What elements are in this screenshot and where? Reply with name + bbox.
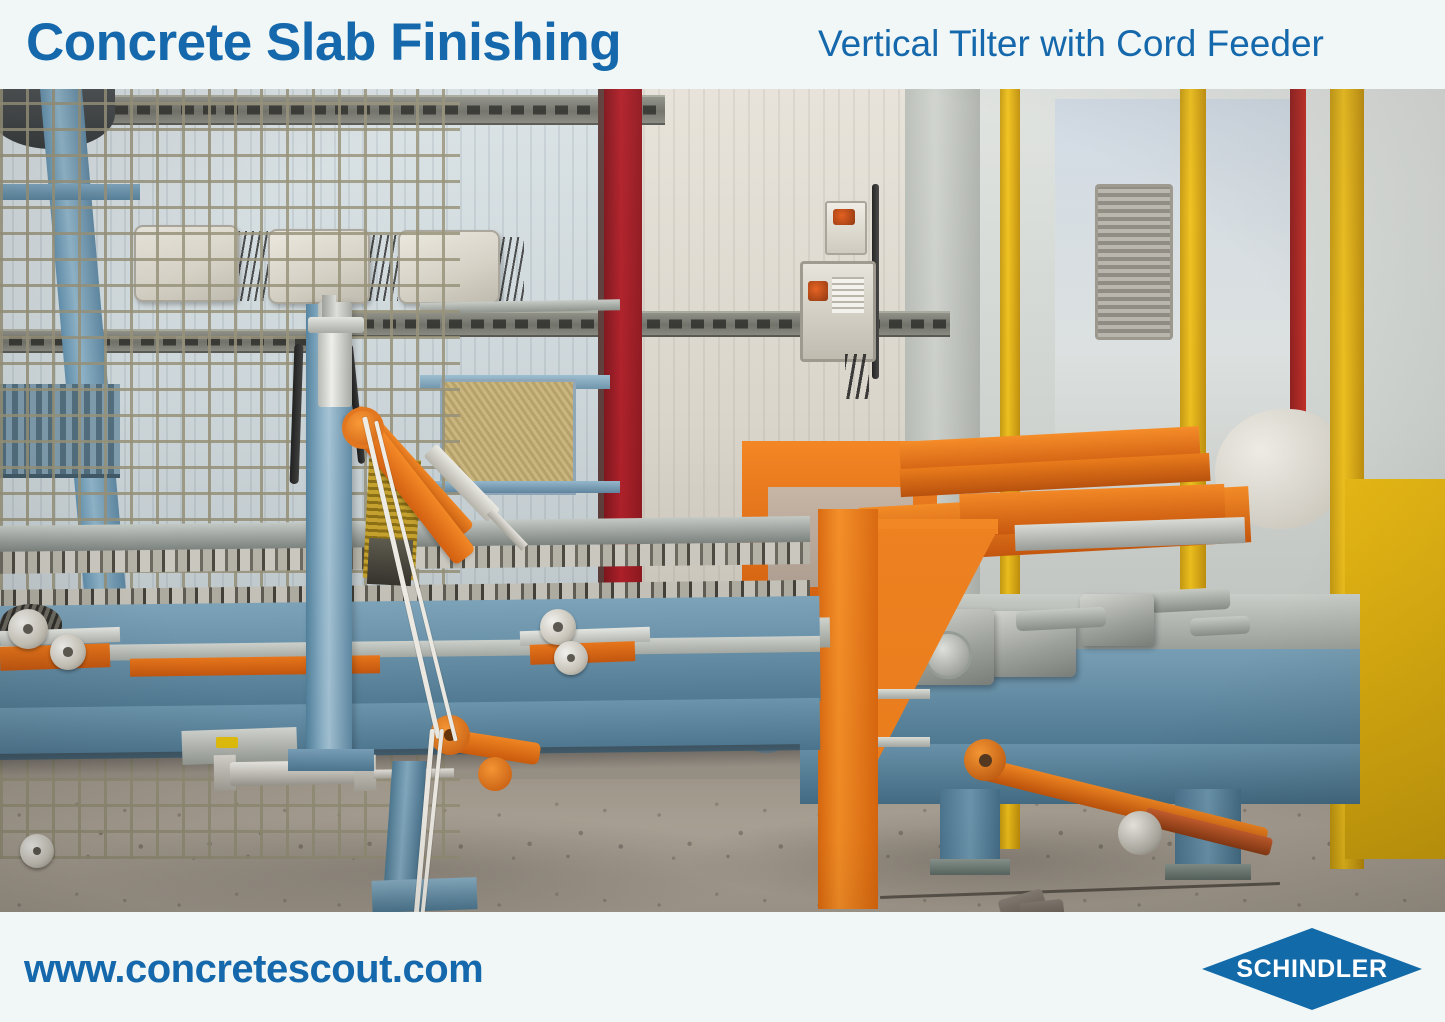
conveyor-roller <box>20 834 54 868</box>
ventilation-fan <box>1095 184 1173 340</box>
cylinder-mount-plate <box>181 727 297 765</box>
tilter-pivot-joint <box>964 739 1006 781</box>
machine-foot <box>930 859 1010 875</box>
support-roller <box>1118 811 1162 855</box>
page-footer: www.concretescout.com SCHINDLER <box>0 912 1445 1022</box>
terminal-rows <box>832 277 864 313</box>
logo-wordmark: SCHINDLER <box>1202 928 1422 1010</box>
drive-shaft <box>1190 615 1251 636</box>
drive-shaft <box>1149 587 1230 613</box>
slide-rod-top <box>322 295 336 317</box>
warning-label <box>216 737 238 748</box>
website-url[interactable]: www.concretescout.com <box>24 949 483 989</box>
gusset-rib <box>878 689 930 699</box>
conveyor-roller <box>554 641 588 675</box>
cage-solid-panel <box>1345 479 1445 859</box>
machine-photo <box>0 89 1445 912</box>
isolator-knob <box>833 209 855 225</box>
slide-mount-block <box>308 317 364 333</box>
mast-base-plate <box>288 749 374 771</box>
junction-box-wiring <box>496 237 524 301</box>
page-title: Concrete Slab Finishing <box>26 9 621 77</box>
conveyor-roller <box>540 609 576 645</box>
main-switch-knob <box>808 281 828 301</box>
machine-leg <box>940 789 1000 867</box>
schindler-logo: SCHINDLER <box>1202 928 1422 1010</box>
conveyor-roller <box>50 634 86 670</box>
arm-lower-joint <box>478 757 512 791</box>
gusset-rib <box>878 737 930 747</box>
page-subtitle: Vertical Tilter with Cord Feeder <box>818 20 1324 68</box>
conveyor-roller <box>8 609 48 649</box>
tilter-column <box>818 509 878 909</box>
cabinet-wiring <box>845 354 869 399</box>
poster-page: Concrete Slab Finishing Vertical Tilter … <box>0 0 1445 1022</box>
machine-foot <box>1165 864 1251 880</box>
page-header: Concrete Slab Finishing Vertical Tilter … <box>0 0 1445 89</box>
